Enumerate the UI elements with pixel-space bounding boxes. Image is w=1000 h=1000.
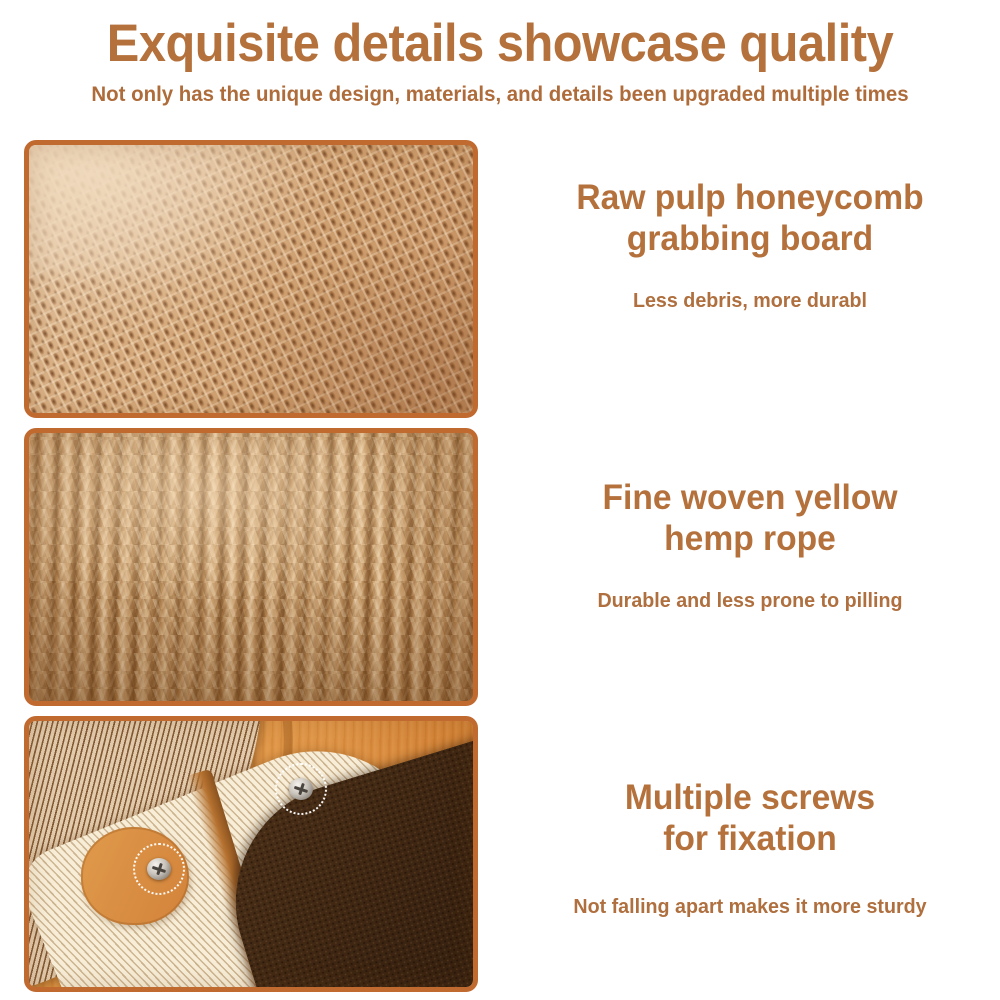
feature-text-hemp-rope: Fine woven yellow hemp rope Durable and …	[500, 478, 1000, 613]
feature-title-line-2: hemp rope	[664, 519, 836, 558]
hemp-rope-photo	[29, 433, 473, 701]
feature-subtitle: Less debris, more durabl	[510, 259, 990, 313]
feature-text-screws-fixation: Multiple screws for fixation Not falling…	[500, 778, 1000, 919]
feature-title-line-2: grabbing board	[627, 219, 873, 258]
feature-subtitle: Not falling apart makes it more sturdy	[510, 859, 990, 919]
page-title: Exquisite details showcase quality	[40, 0, 960, 73]
screw-head-icon	[147, 858, 171, 880]
screws-photo	[29, 721, 473, 987]
rope-shading-gradient	[29, 433, 473, 701]
feature-title: Fine woven yellow hemp rope	[510, 478, 990, 559]
screw-highlight-lower	[133, 843, 185, 895]
feature-title: Multiple screws for fixation	[510, 778, 990, 859]
feature-image-honeycomb-board	[24, 140, 478, 418]
page-subtitle: Not only has the unique design, material…	[25, 73, 975, 107]
feature-title-line-1: Fine woven yellow	[602, 478, 897, 517]
feature-title: Raw pulp honeycomb grabbing board	[510, 178, 990, 259]
feature-image-hemp-rope	[24, 428, 478, 706]
screw-highlight-upper	[275, 763, 327, 815]
feature-title-line-1: Multiple screws	[625, 778, 875, 817]
feature-title-line-1: Raw pulp honeycomb	[576, 178, 923, 217]
honeycomb-photo	[29, 145, 473, 413]
screw-head-icon	[289, 778, 313, 800]
feature-subtitle: Durable and less prone to pilling	[510, 559, 990, 613]
feature-image-screws-fixation	[24, 716, 478, 992]
page-header: Exquisite details showcase quality Not o…	[0, 0, 1000, 107]
feature-text-honeycomb-board: Raw pulp honeycomb grabbing board Less d…	[500, 178, 1000, 313]
honeycomb-focus-gradient	[29, 145, 473, 413]
feature-title-line-2: for fixation	[663, 819, 837, 858]
